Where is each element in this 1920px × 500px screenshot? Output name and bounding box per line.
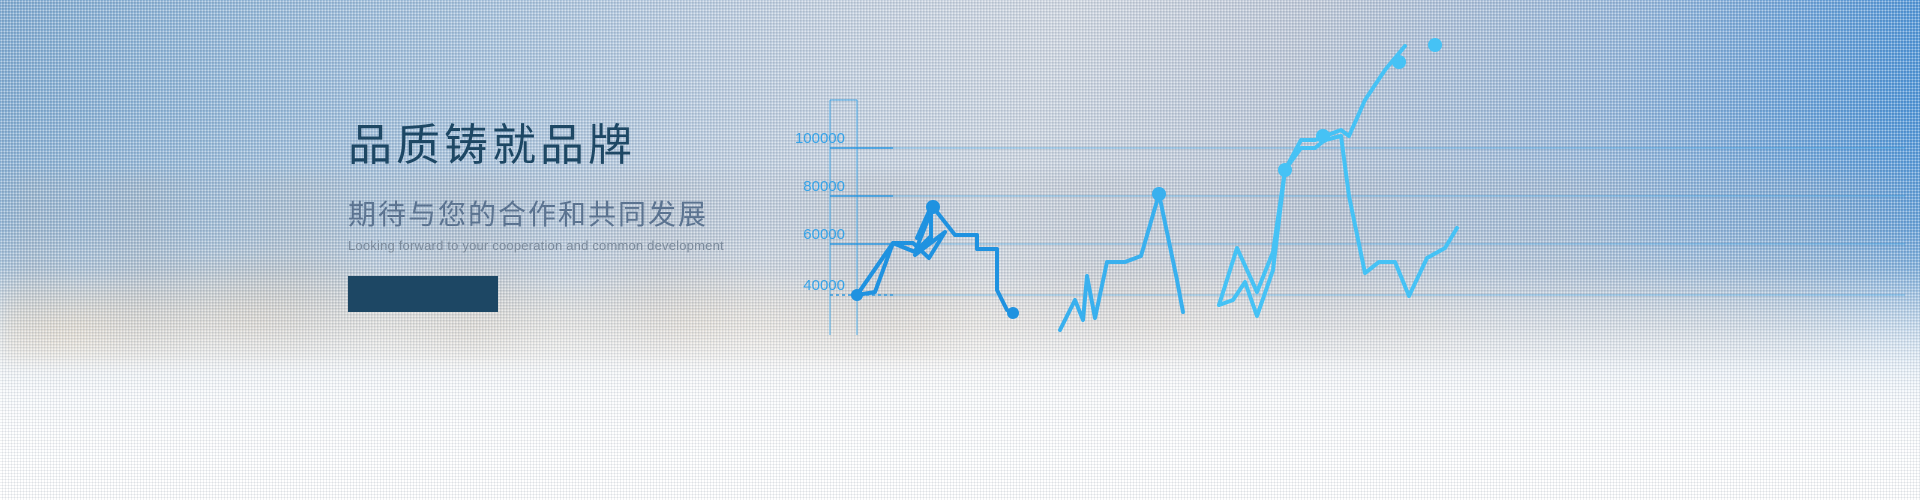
cta-button[interactable] [348,276,498,312]
chart-series-1 [851,200,1019,319]
chart-series-2 [1060,187,1183,330]
chart-series-3 [1219,38,1457,316]
chart-data-point [1278,163,1292,177]
chart-data-point [1007,307,1019,319]
hero-banner: 品质铸就品牌 期待与您的合作和共同发展 Looking forward to y… [0,0,1920,500]
chart-data-point [851,289,863,301]
y-tick-label: 40000 [803,277,845,294]
y-tick-label: 80000 [803,178,845,195]
line-chart: 100000 80000 60000 40000 [745,0,1920,500]
chart-svg: 100000 80000 60000 40000 [745,0,1920,500]
chart-data-point [1152,187,1166,201]
chart-data-point [1316,129,1330,143]
chart-data-point [1392,55,1406,69]
chart-data-point [926,200,940,214]
banner-copy: 品质铸就品牌 期待与您的合作和共同发展 Looking forward to y… [348,120,768,312]
y-tick-label: 60000 [803,226,845,243]
subtitle-english: Looking forward to your cooperation and … [348,238,768,255]
page-title: 品质铸就品牌 [348,120,768,172]
subtitle-chinese: 期待与您的合作和共同发展 [348,198,768,232]
chart-data-point [1428,38,1442,52]
y-tick-label: 100000 [795,130,845,147]
